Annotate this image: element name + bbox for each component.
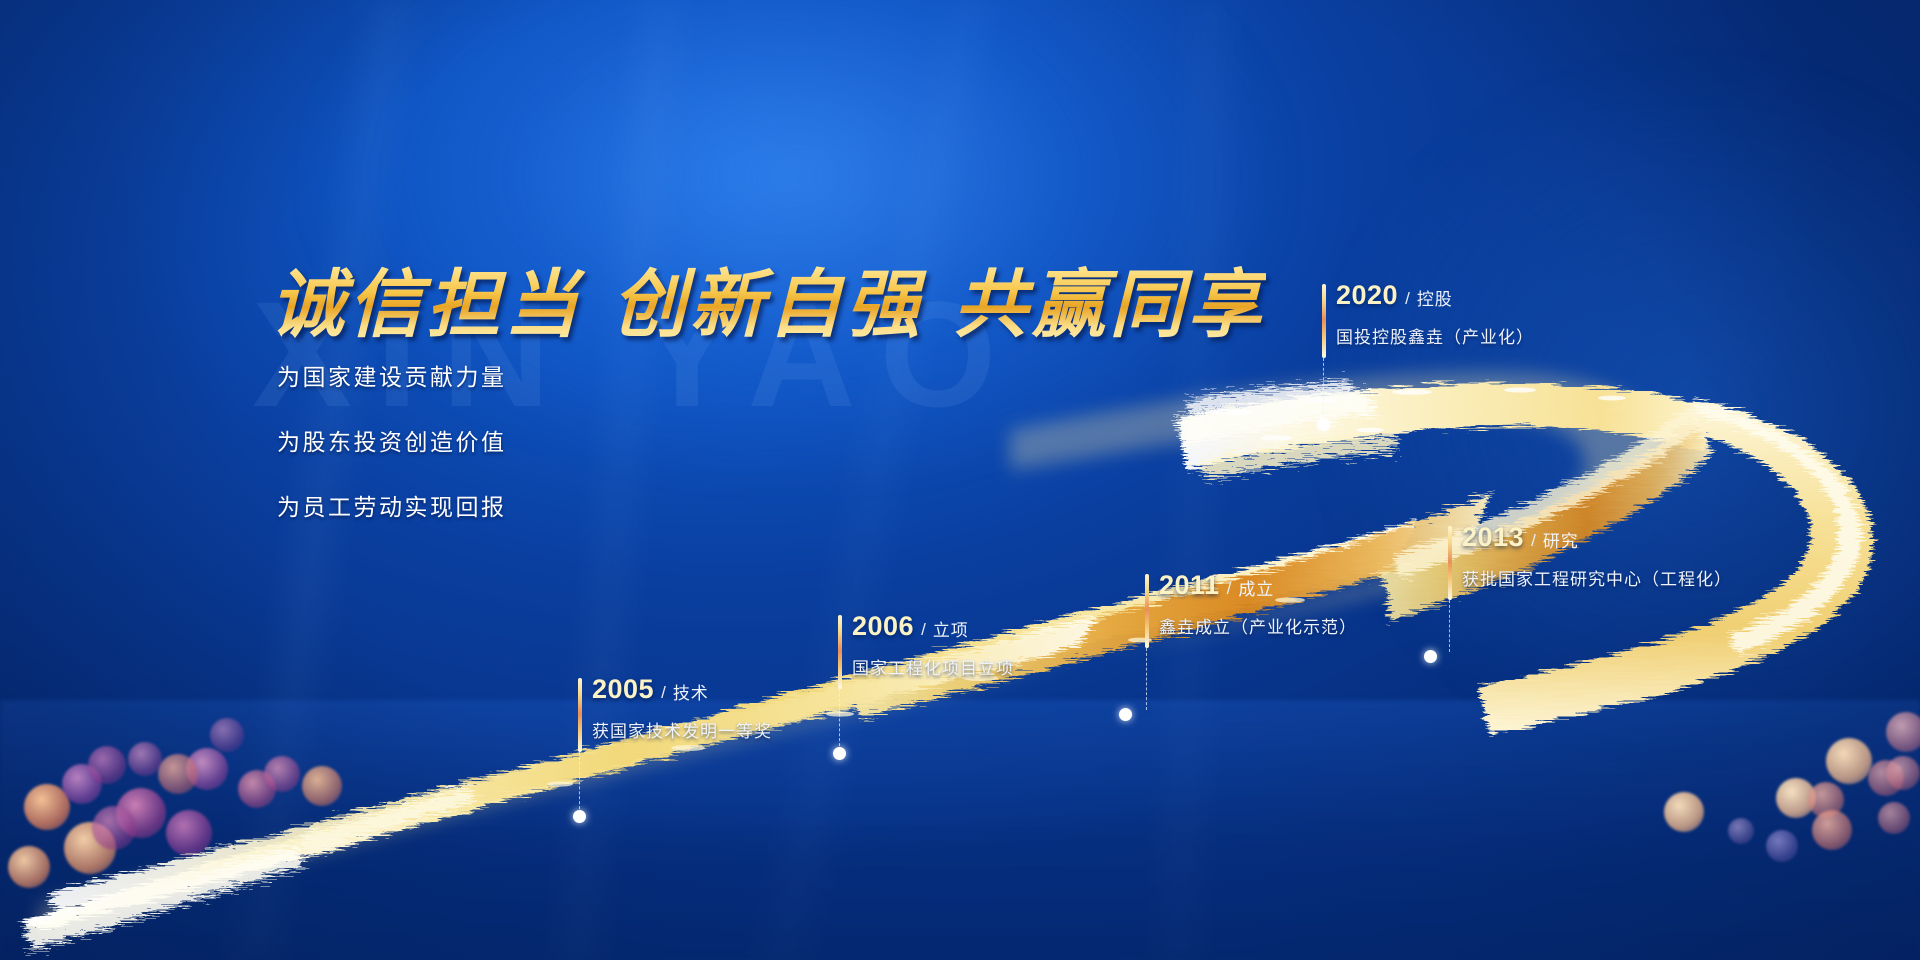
slogan-line: 为员工劳动实现回报	[277, 488, 507, 522]
bokeh-circle	[302, 766, 342, 806]
milestone-header: 2013 / 研究	[1448, 524, 1732, 551]
milestone-tag: 控股	[1417, 291, 1453, 309]
milestone-connector-2020	[1323, 358, 1324, 424]
bokeh-circle	[1886, 756, 1920, 790]
bokeh-circle	[158, 754, 198, 794]
bokeh-circle	[1878, 802, 1910, 834]
milestone-year: 2020	[1336, 282, 1398, 309]
bokeh-circle	[88, 746, 126, 784]
milestone-dot-2011	[1119, 708, 1132, 721]
milestone-header: 2006 / 立项	[838, 613, 1014, 640]
bokeh-circle	[210, 718, 244, 752]
milestone-year: 2005	[592, 676, 654, 703]
bokeh-circle	[1826, 738, 1872, 784]
milestone-connector-2005	[579, 752, 580, 814]
milestone-separator: /	[1531, 532, 1536, 551]
slogan-list: 为国家建设贡献力量 为股东投资创造价值 为员工劳动实现回报	[277, 358, 507, 553]
accent-bar-icon	[1448, 526, 1452, 600]
milestone-header: 2020 / 控股	[1322, 282, 1534, 309]
milestone-2006[interactable]: 2006 / 立项 国家工程化项目立项	[838, 613, 1014, 679]
milestone-description: 国家工程化项目立项	[838, 654, 1014, 679]
accent-bar-icon	[1145, 574, 1149, 648]
bokeh-circle	[1812, 810, 1852, 850]
accent-bar-icon	[838, 615, 842, 689]
bokeh-circle	[166, 810, 212, 856]
milestone-dot-2020	[1317, 418, 1330, 431]
bokeh-circle	[1664, 792, 1704, 832]
milestone-dot-2006	[833, 747, 846, 760]
milestone-year: 2006	[852, 613, 914, 640]
banner-stage: XIN YAO	[0, 0, 1920, 960]
milestone-separator: /	[921, 621, 926, 640]
milestone-dot-2005	[573, 810, 586, 823]
milestone-2011[interactable]: 2011 / 成立 鑫垚成立（产业化示范）	[1145, 572, 1357, 638]
milestone-year: 2013	[1462, 524, 1524, 551]
milestone-description: 获批国家工程研究中心（工程化）	[1448, 565, 1732, 590]
milestone-connector-2011	[1146, 648, 1147, 710]
milestone-header: 2005 / 技术	[578, 676, 772, 703]
bokeh-circle	[1886, 712, 1920, 752]
accent-bar-icon	[578, 678, 582, 752]
milestone-2020[interactable]: 2020 / 控股 国投控股鑫垚（产业化）	[1322, 282, 1534, 348]
milestone-connector-2013	[1449, 600, 1450, 652]
milestone-tag: 研究	[1543, 533, 1579, 551]
milestone-year: 2011	[1159, 572, 1220, 599]
milestone-description: 国投控股鑫垚（产业化）	[1322, 323, 1534, 348]
milestone-connector-2006	[839, 689, 840, 751]
slogan-line: 为国家建设贡献力量	[277, 358, 507, 392]
milestone-separator: /	[1405, 290, 1410, 309]
milestone-description: 鑫垚成立（产业化示范）	[1145, 613, 1357, 638]
milestone-separator: /	[661, 684, 666, 703]
milestone-2013[interactable]: 2013 / 研究 获批国家工程研究中心（工程化）	[1448, 524, 1732, 590]
accent-bar-icon	[1322, 284, 1326, 358]
milestone-header: 2011 / 成立	[1145, 572, 1357, 599]
milestone-dot-2013	[1424, 650, 1437, 663]
milestone-2005[interactable]: 2005 / 技术 获国家技术发明一等奖	[578, 676, 772, 742]
milestone-tag: 技术	[673, 685, 709, 703]
milestone-description: 获国家技术发明一等奖	[578, 717, 772, 742]
bokeh-circle	[128, 742, 162, 776]
bokeh-circle	[1766, 830, 1798, 862]
milestone-tag: 立项	[933, 622, 969, 640]
page-title: 诚信担当 创新自强 共赢同享	[270, 245, 1266, 352]
slogan-line: 为股东投资创造价值	[277, 423, 507, 457]
bokeh-circle	[264, 756, 300, 792]
milestone-separator: /	[1227, 580, 1232, 599]
bokeh-circle	[1728, 818, 1754, 844]
milestone-tag: 成立	[1238, 581, 1274, 599]
bokeh-circle	[8, 846, 50, 888]
bokeh-circle	[92, 806, 136, 850]
